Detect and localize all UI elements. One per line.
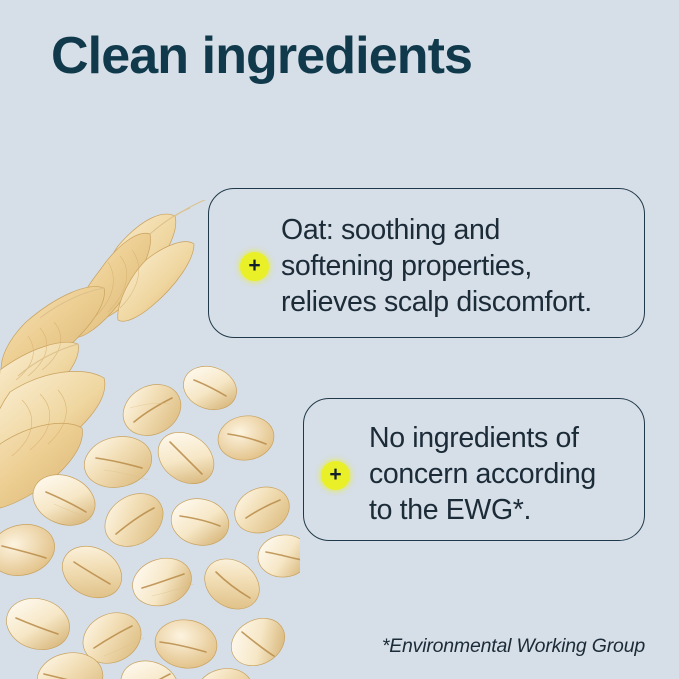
- page-title: Clean ingredients: [51, 25, 472, 87]
- footnote: *Environmental Working Group: [382, 634, 645, 658]
- ewg-text: No ingredients of concern according to t…: [369, 420, 596, 528]
- plus-symbol: +: [329, 464, 341, 485]
- plus-icon: +: [321, 461, 350, 490]
- oat-benefit-text: Oat: soothing and softening properties, …: [281, 212, 592, 320]
- product-info-panel: Clean ingredients + Oat: soothing and so…: [0, 0, 679, 679]
- ewg-card: + No ingredients of concern according to…: [303, 398, 645, 541]
- plus-icon: +: [240, 252, 269, 281]
- oat-benefit-card: + Oat: soothing and softening properties…: [208, 188, 645, 338]
- plus-symbol: +: [248, 255, 260, 276]
